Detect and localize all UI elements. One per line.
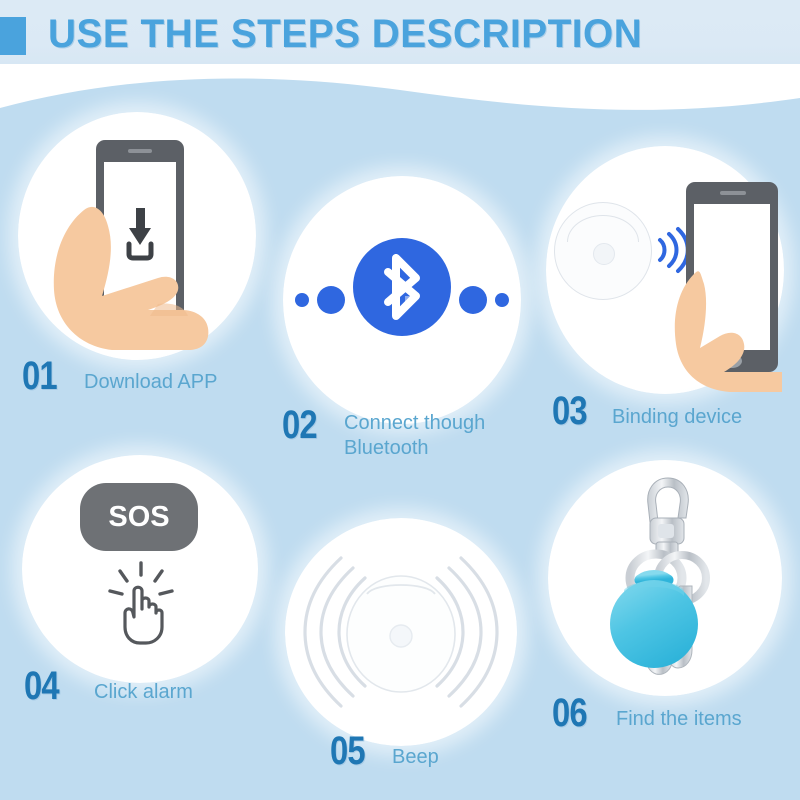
step-04-bubble: SOS bbox=[22, 455, 258, 683]
bluetooth-dot-small-left bbox=[295, 293, 309, 307]
hand-holding-phone-icon bbox=[654, 268, 800, 396]
step-02-number: 02 bbox=[282, 407, 320, 443]
sos-button[interactable]: SOS bbox=[80, 483, 198, 551]
bluetooth-icon bbox=[353, 238, 451, 336]
infographic-page: USE THE STEPS DESCRIPTION bbox=[0, 0, 800, 800]
bluetooth-glyph-icon bbox=[353, 238, 451, 336]
step-01-number: 01 bbox=[22, 358, 60, 394]
hand-holding-phone-icon bbox=[38, 200, 218, 358]
step-03-caption: 03 Binding device bbox=[552, 393, 742, 430]
step-01-label: Download APP bbox=[84, 370, 217, 395]
step-01-caption: 01 Download APP bbox=[22, 358, 217, 395]
step-02-label-line2: Bluetooth bbox=[344, 436, 485, 461]
step-03-number: 03 bbox=[552, 393, 590, 429]
tracker-center-button-icon bbox=[593, 243, 615, 265]
step-01-bubble bbox=[18, 112, 256, 360]
tracker-sound-waves-icon bbox=[295, 530, 507, 734]
bluetooth-dot-large-left bbox=[317, 286, 345, 314]
phone-speaker-icon bbox=[128, 149, 152, 153]
page-title: USE THE STEPS DESCRIPTION bbox=[48, 12, 642, 57]
tracker-device-icon bbox=[554, 202, 652, 300]
step-02-caption: 02 Connect though Bluetooth bbox=[282, 407, 485, 461]
phone-speaker-icon bbox=[720, 191, 746, 195]
bluetooth-dot-small-right bbox=[495, 293, 509, 307]
step-05-caption: 05 Beep bbox=[330, 733, 439, 770]
sos-button-label: SOS bbox=[108, 501, 169, 534]
step-05-bubble bbox=[285, 518, 517, 746]
step-04-caption: 04 Click alarm bbox=[24, 668, 193, 705]
step-06-caption: 06 Find the items bbox=[552, 695, 742, 732]
keychain-tracker-icon bbox=[594, 474, 744, 688]
click-cursor-icon bbox=[100, 561, 182, 647]
bluetooth-dot-large-right bbox=[459, 286, 487, 314]
step-02-bubble bbox=[283, 176, 521, 424]
step-05-number: 05 bbox=[330, 733, 368, 769]
step-04-number: 04 bbox=[24, 668, 62, 704]
step-06-bubble bbox=[548, 460, 782, 696]
step-06-number: 06 bbox=[552, 695, 590, 731]
header-bar: USE THE STEPS DESCRIPTION bbox=[0, 0, 800, 64]
step-05-label: Beep bbox=[392, 745, 439, 770]
step-03-label: Binding device bbox=[612, 405, 742, 430]
header-square-marker bbox=[0, 17, 26, 55]
step-04-label: Click alarm bbox=[94, 680, 193, 705]
tracker-loop-icon bbox=[567, 215, 639, 242]
step-02-label-line1: Connect though bbox=[344, 411, 485, 436]
step-03-bubble bbox=[546, 146, 784, 394]
step-06-label: Find the items bbox=[616, 707, 742, 732]
